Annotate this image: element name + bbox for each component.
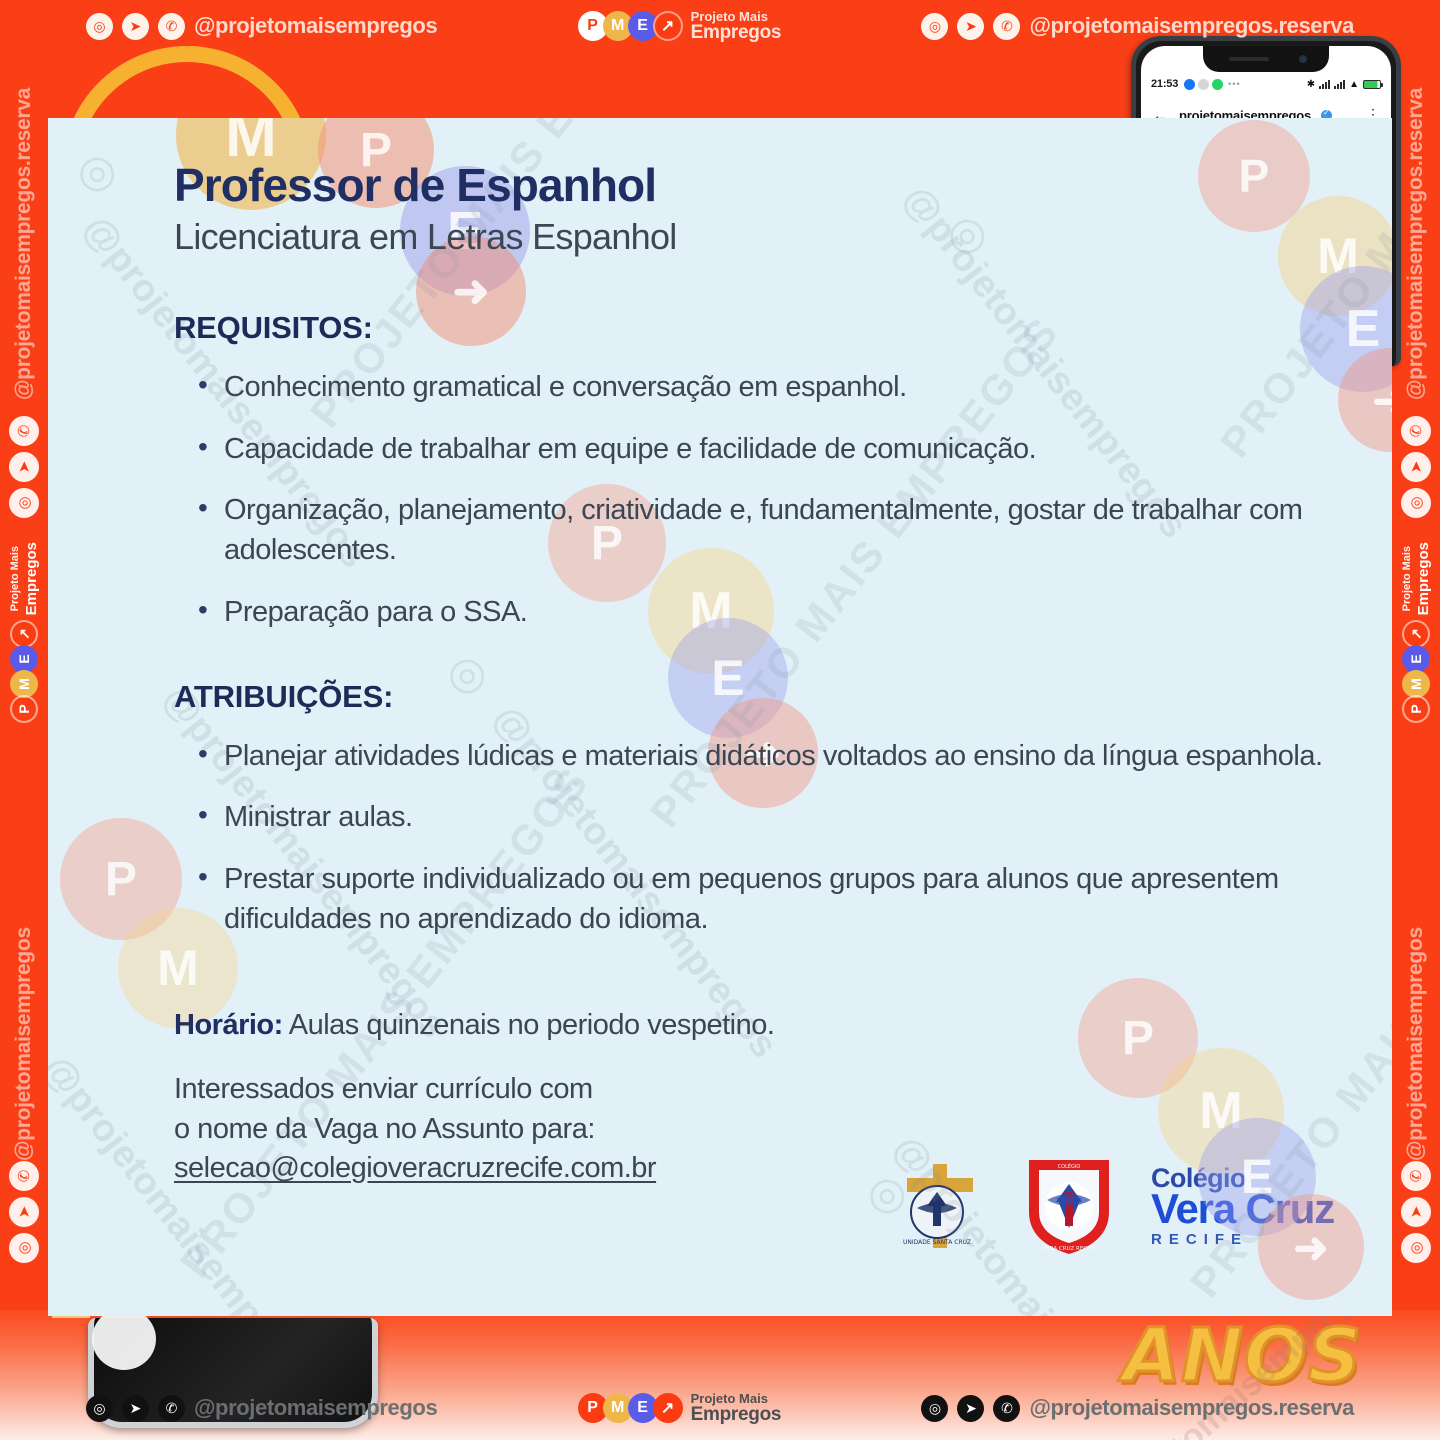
contact-line-1: Interessados enviar currículo com xyxy=(174,1073,593,1105)
signal-icon-2 xyxy=(1334,80,1345,89)
job-posting-card: M P E ➜ P M E ➜ P M E ➜ P M P M E ➜ @pro… xyxy=(48,118,1392,1316)
job-subtitle: Licenciatura em Letras Espanhol xyxy=(174,216,1336,258)
bluetooth-icon: ✱ xyxy=(1307,79,1315,90)
telegram-icon[interactable]: ➤ xyxy=(122,1395,149,1422)
horario-line: Horário: Aulas quinzenais no periodo ves… xyxy=(174,1009,1336,1042)
requisitos-list: Conhecimento gramatical e conversação em… xyxy=(174,368,1336,633)
requisitos-heading: REQUISITOS: xyxy=(174,310,1336,346)
telegram-icon[interactable]: ➤ xyxy=(957,13,984,40)
whatsapp-icon[interactable]: ✆ xyxy=(158,1395,185,1422)
contact-line-2: o nome da Vaga no Assunto para: xyxy=(174,1113,595,1145)
pme-logo-circles: P M E ↗ xyxy=(578,11,683,41)
pme-logo-footer: P M E ↗ Projeto Mais Empregos xyxy=(578,1392,782,1424)
list-item: Organização, planejamento, criatividade … xyxy=(198,491,1336,570)
contact-email[interactable]: selecao@colegioveracruzrecife.com.br xyxy=(174,1152,656,1184)
whatsapp-icon[interactable]: ✆ xyxy=(993,1395,1020,1422)
poster-canvas: 21:53 ••• ✱ ▲ ← projetomaisempregos xyxy=(0,0,1440,1440)
status-system-icons: ✱ ▲ xyxy=(1307,79,1381,90)
horario-value: Aulas quinzenais no periodo vespetino. xyxy=(289,1009,775,1041)
header-bar: ◎ ➤ ✆ @projetomaisempregos P M E ↗ Proje… xyxy=(0,0,1440,52)
list-item: Planejar atividades lúdicas e materiais … xyxy=(198,737,1336,777)
pme-wordmark: Projeto Mais Empregos xyxy=(691,1392,782,1424)
footer-right-handle-group[interactable]: ◎ ➤ ✆ @projetomaisempregos.reserva xyxy=(921,1395,1354,1422)
list-item: Conhecimento gramatical e conversação em… xyxy=(198,368,1336,408)
pme-logo-circles: P M E ↗ xyxy=(578,1393,683,1423)
instagram-icon xyxy=(1198,79,1209,90)
pme-logo-header: P M E ↗ Projeto Mais Empregos xyxy=(578,10,782,42)
status-notification-icons xyxy=(1184,79,1223,90)
brand-line-2: Empregos xyxy=(691,23,782,42)
instagram-icon[interactable]: ◎ xyxy=(921,13,948,40)
header-left-handle-group[interactable]: ◎ ➤ ✆ @projetomaisempregos xyxy=(86,13,437,40)
arrow-icon: ↗ xyxy=(653,1393,683,1423)
page-title: Professor de Espanhol xyxy=(174,158,1336,212)
pme-wordmark: Projeto Mais Empregos xyxy=(691,10,782,42)
contact-block: Interessados enviar currículo com o nome… xyxy=(174,1070,1336,1188)
atribuicoes-heading: ATRIBUIÇÕES: xyxy=(174,679,1336,715)
instagram-icon[interactable]: ◎ xyxy=(86,1395,113,1422)
footer-left-handle-group[interactable]: ◎ ➤ ✆ @projetomaisempregos xyxy=(86,1395,437,1422)
status-overflow-dots: ••• xyxy=(1228,79,1240,89)
footer-right-handle: @projetomaisempregos.reserva xyxy=(1029,1395,1354,1421)
battery-icon xyxy=(1363,80,1381,89)
signal-icon-1 xyxy=(1319,80,1330,89)
telegram-icon[interactable]: ➤ xyxy=(957,1395,984,1422)
footer-bar: ◎ ➤ ✆ @projetomaisempregos P M E ↗ Proje… xyxy=(0,1382,1440,1434)
whatsapp-icon xyxy=(1212,79,1223,90)
header-left-handle: @projetomaisempregos xyxy=(194,13,437,39)
card-content: Professor de Espanhol Licenciatura em Le… xyxy=(48,118,1392,1316)
footer-left-handle: @projetomaisempregos xyxy=(194,1395,437,1421)
brand-line-2: Empregos xyxy=(691,1405,782,1424)
list-item: Preparação para o SSA. xyxy=(198,593,1336,633)
telegram-icon[interactable]: ➤ xyxy=(122,13,149,40)
wifi-icon: ▲ xyxy=(1349,79,1359,90)
whatsapp-icon[interactable]: ✆ xyxy=(158,13,185,40)
status-time: 21:53 xyxy=(1151,78,1178,90)
list-item: Capacidade de trabalhar em equipe e faci… xyxy=(198,430,1336,470)
instagram-icon[interactable]: ◎ xyxy=(86,13,113,40)
notch-speaker xyxy=(1229,57,1269,61)
horario-label: Horário: xyxy=(174,1009,283,1041)
header-right-handle: @projetomaisempregos.reserva xyxy=(1029,13,1354,39)
arrow-icon: ↗ xyxy=(653,11,683,41)
list-item: Prestar suporte individualizado ou em pe… xyxy=(198,860,1336,939)
notch-camera xyxy=(1299,55,1307,63)
facebook-icon xyxy=(1184,79,1195,90)
header-right-handle-group[interactable]: ◎ ➤ ✆ @projetomaisempregos.reserva xyxy=(921,13,1354,40)
list-item: Ministrar aulas. xyxy=(198,798,1336,838)
instagram-icon[interactable]: ◎ xyxy=(921,1395,948,1422)
whatsapp-icon[interactable]: ✆ xyxy=(993,13,1020,40)
phone-status-bar: 21:53 ••• ✱ ▲ xyxy=(1141,72,1391,96)
atribuicoes-list: Planejar atividades lúdicas e materiais … xyxy=(174,737,1336,940)
